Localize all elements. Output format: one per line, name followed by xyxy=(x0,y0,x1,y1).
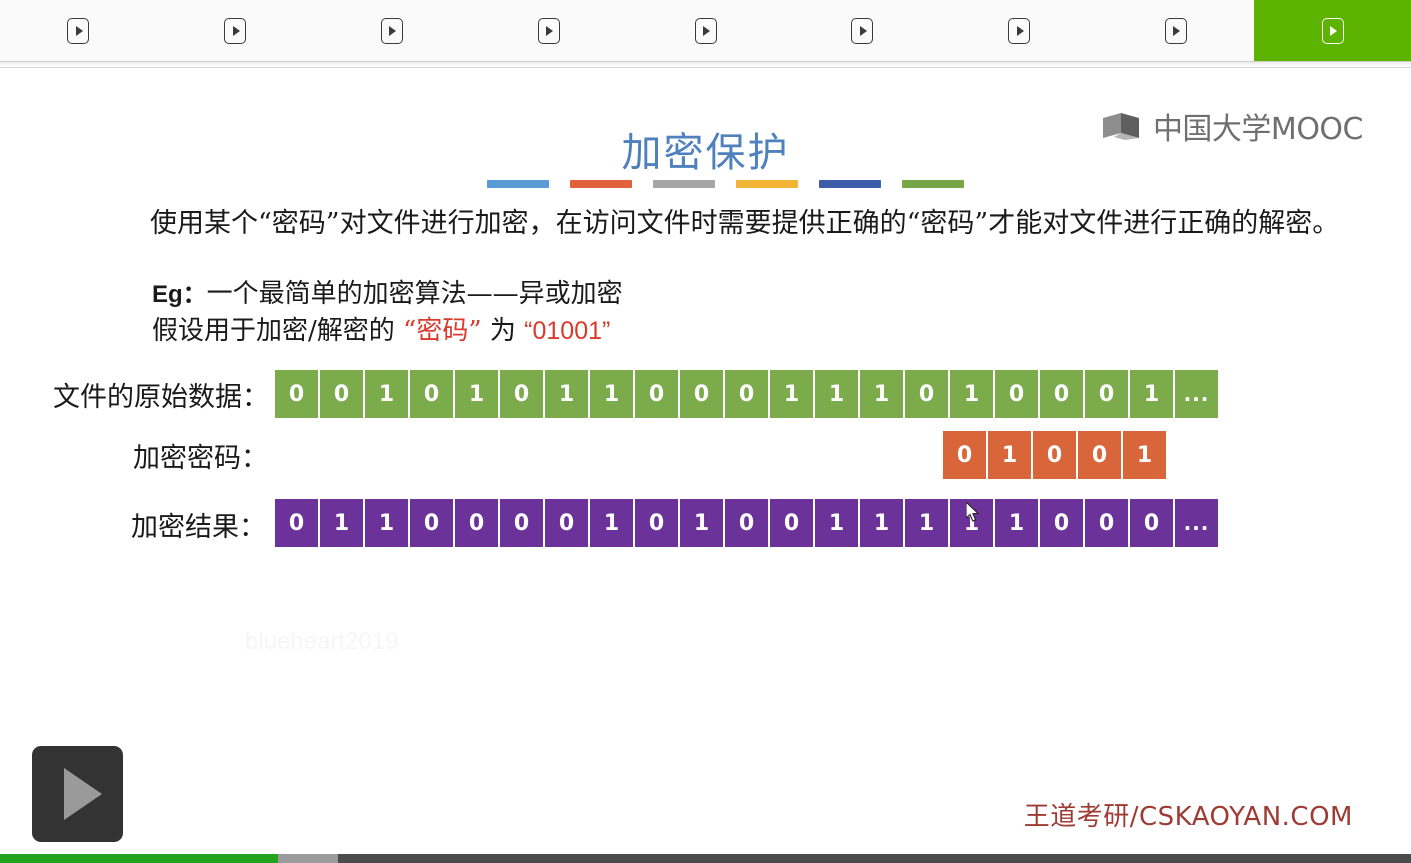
video-progress-bar[interactable] xyxy=(0,854,1411,863)
title-bar-4 xyxy=(736,180,798,188)
play-square-icon xyxy=(851,18,873,44)
play-square-icon xyxy=(67,18,89,44)
bit-cell: 0 xyxy=(275,370,318,418)
bit-cell: 0 xyxy=(320,370,363,418)
watermark-text: blueheart2019 xyxy=(245,628,398,656)
bit-cell: 0 xyxy=(545,499,588,547)
play-button[interactable] xyxy=(32,746,123,842)
encryption-key-row: 01001 xyxy=(943,431,1166,479)
example-line-1: Eg：一个最简单的加密算法——异或加密 xyxy=(152,276,623,313)
bit-cell: 1 xyxy=(815,370,858,418)
bit-cell: 1 xyxy=(455,370,498,418)
example-block: Eg：一个最简单的加密算法——异或加密 假设用于加密/解密的 “密码” 为 “0… xyxy=(152,276,623,350)
tab-2[interactable] xyxy=(157,0,314,61)
play-square-icon xyxy=(1322,18,1344,44)
intro-paragraph: 使用某个“密码”对文件进行加密，在访问文件时需要提供正确的“密码”才能对文件进行… xyxy=(150,206,1365,242)
bit-cell: 0 xyxy=(410,370,453,418)
title-bar-3 xyxy=(653,180,715,188)
bit-cell: 0 xyxy=(770,499,813,547)
bit-cell: 0 xyxy=(455,499,498,547)
bit-cell: 1 xyxy=(545,370,588,418)
bit-cell: 0 xyxy=(410,499,453,547)
encryption-result-row: 01100001010011111000... xyxy=(275,499,1218,547)
bit-cell: 0 xyxy=(635,370,678,418)
slide-canvas: 中国大学MOOC 加密保护 使用某个“密码”对文件进行加密，在访问文件时需要提供… xyxy=(0,67,1411,845)
progress-played xyxy=(0,854,278,863)
tab-1[interactable] xyxy=(0,0,157,61)
brand-text: 王道考研/CSKAOYAN.COM xyxy=(1024,796,1353,833)
bit-cell: 0 xyxy=(500,370,543,418)
tab-5[interactable] xyxy=(627,0,784,61)
bit-cell: 0 xyxy=(725,370,768,418)
bit-cell: 0 xyxy=(1033,431,1076,479)
tab-3[interactable] xyxy=(314,0,471,61)
bit-cell: 0 xyxy=(1085,370,1128,418)
bit-cell: 0 xyxy=(1040,499,1083,547)
tab-7[interactable] xyxy=(941,0,1098,61)
bit-cell: 0 xyxy=(635,499,678,547)
play-square-icon xyxy=(1008,18,1030,44)
bit-cell: 1 xyxy=(1130,370,1173,418)
example-label: Eg： xyxy=(152,281,207,308)
bit-cell: 1 xyxy=(950,499,993,547)
example-line-2-prefix: 假设用于加密/解密的 xyxy=(152,316,403,346)
bit-cell: 0 xyxy=(905,370,948,418)
original-data-row: 00101011000111010001... xyxy=(275,370,1218,418)
bit-cell: 1 xyxy=(988,431,1031,479)
bit-cell: 0 xyxy=(275,499,318,547)
bit-cell: 1 xyxy=(995,499,1038,547)
play-square-icon xyxy=(1165,18,1187,44)
tab-6[interactable] xyxy=(784,0,941,61)
bit-cell-ellipsis: ... xyxy=(1175,499,1218,547)
bit-cell: 0 xyxy=(1130,499,1173,547)
bit-cell: 0 xyxy=(725,499,768,547)
title-bar-1 xyxy=(487,180,549,188)
bit-cell: 1 xyxy=(365,499,408,547)
bit-cell: 0 xyxy=(1085,499,1128,547)
play-square-icon xyxy=(224,18,246,44)
bit-cell: 1 xyxy=(590,499,633,547)
bit-cell: 1 xyxy=(950,370,993,418)
play-square-icon xyxy=(381,18,403,44)
play-square-icon xyxy=(538,18,560,44)
bit-cell-ellipsis: ... xyxy=(1175,370,1218,418)
bit-cell: 0 xyxy=(943,431,986,479)
example-line-1-text: 一个最简单的加密算法——异或加密 xyxy=(207,279,623,309)
play-icon xyxy=(64,768,102,820)
bit-cell: 1 xyxy=(905,499,948,547)
play-square-icon xyxy=(695,18,717,44)
example-key-label: “密码” xyxy=(403,316,482,346)
title-bar-6 xyxy=(902,180,964,188)
bit-cell: 1 xyxy=(590,370,633,418)
title-bar-5 xyxy=(819,180,881,188)
example-key-value: “01001” xyxy=(524,317,610,345)
bit-cell: 1 xyxy=(680,499,723,547)
bit-cell: 1 xyxy=(1123,431,1166,479)
tab-8[interactable] xyxy=(1097,0,1254,61)
example-line-2: 假设用于加密/解密的 “密码” 为 “01001” xyxy=(152,313,623,350)
bit-cell: 1 xyxy=(815,499,858,547)
title-bar-2 xyxy=(570,180,632,188)
bit-cell: 1 xyxy=(320,499,363,547)
bit-cell: 0 xyxy=(500,499,543,547)
bit-cell: 0 xyxy=(1040,370,1083,418)
bit-cell: 0 xyxy=(995,370,1038,418)
bit-cell: 0 xyxy=(680,370,723,418)
example-line-2-mid: 为 xyxy=(482,316,525,346)
bit-cell: 1 xyxy=(860,370,903,418)
bit-cell: 1 xyxy=(770,370,813,418)
encryption-key-label: 加密密码： xyxy=(133,436,268,475)
encryption-result-label: 加密结果： xyxy=(131,505,266,544)
bit-cell: 1 xyxy=(365,370,408,418)
title-decoration-bars xyxy=(487,180,964,188)
chapter-tab-bar xyxy=(0,0,1411,62)
page-title: 加密保护 xyxy=(0,120,1411,178)
bit-cell: 0 xyxy=(1078,431,1121,479)
bit-cell: 1 xyxy=(860,499,903,547)
tab-4[interactable] xyxy=(470,0,627,61)
original-data-label: 文件的原始数据： xyxy=(53,375,269,414)
tab-9-active[interactable] xyxy=(1254,0,1411,61)
